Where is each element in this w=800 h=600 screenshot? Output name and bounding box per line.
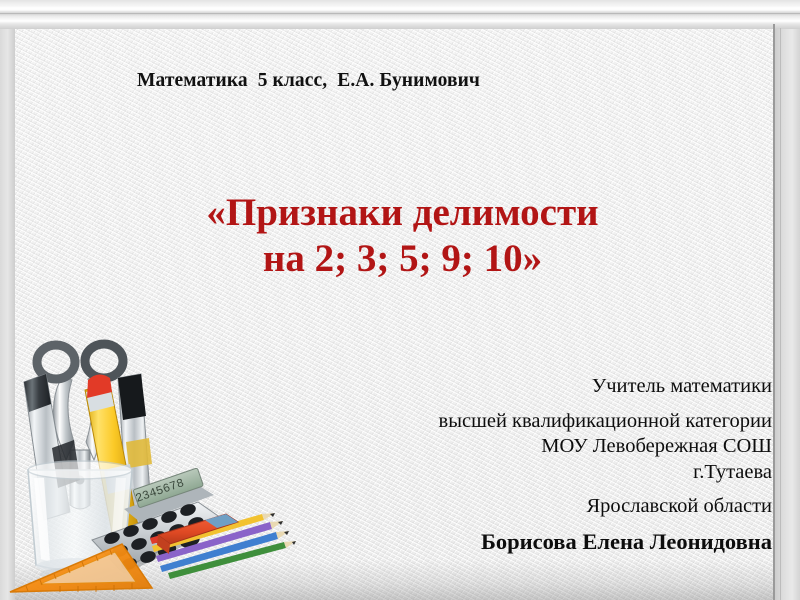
course-header: Математика 5 класс, Е.А. Бунимович [137,70,480,92]
credit-line-city: г.Тутаева [232,462,772,483]
frame-right-rule-inner [780,28,781,600]
credit-line-position: Учитель математики [232,376,772,397]
slide-title: «Признаки делимости на 2; 3; 5; 9; 10» [60,190,745,282]
credits-block: Учитель математики высшей квалификационн… [232,376,772,553]
presentation-slide: Математика 5 класс, Е.А. Бунимович «Приз… [0,0,800,600]
credit-line-school: МОУ Левобережная СОШ [232,436,772,457]
stationery-illustration: 2345678 [0,330,300,600]
frame-top-molding [0,0,800,29]
author-name: Борисова Елена Леонидовна [232,531,772,554]
frame-right-rule-outer [773,24,775,600]
credit-line-category: высшей квалификационной категории [232,411,772,432]
credit-line-region: Ярославской области [232,496,772,517]
frame-right-band [773,29,800,600]
